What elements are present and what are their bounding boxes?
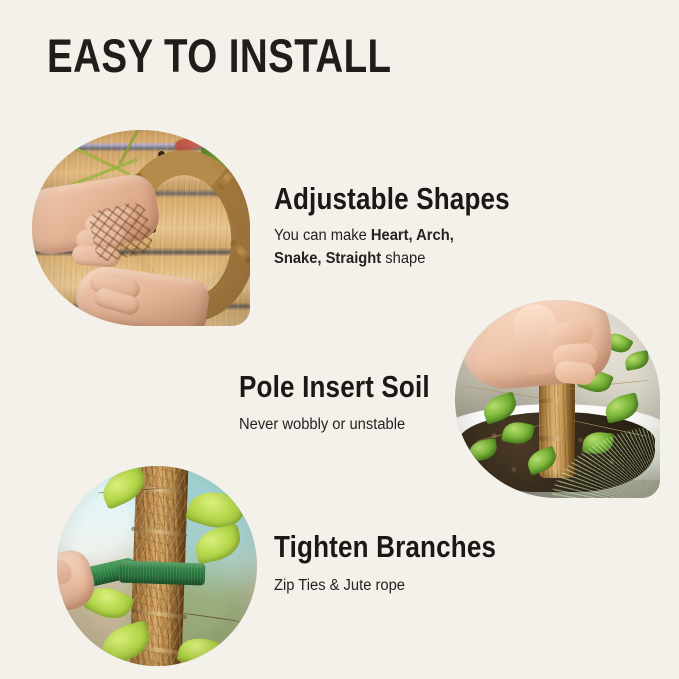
page-title: EASY TO INSTALL — [47, 28, 391, 84]
feature-heading: Pole Insert Soil — [239, 368, 430, 406]
feature-text-pole-insert-soil: Pole Insert Soil Never wobbly or unstabl… — [239, 368, 466, 436]
feature-text-tighten-branches: Tighten Branches Zip Ties & Jute rope — [274, 528, 538, 597]
subtitle-suffix: shape — [381, 250, 425, 267]
infographic-canvas: EASY TO INSTALL Adjustable Shapes Yo — [0, 0, 679, 679]
subtitle-prefix: You can make — [274, 227, 371, 244]
feature-subtitle: Never wobbly or unstable — [239, 413, 455, 436]
feature-heading: Tighten Branches — [274, 528, 496, 566]
subtitle-bold-shapes-2: Snake, Straight — [274, 250, 381, 267]
feature-image-tighten-branches — [57, 466, 257, 666]
feature-image-pole-insert-soil — [455, 300, 660, 498]
feature-subtitle: Zip Ties & Jute rope — [274, 574, 525, 597]
feature-image-adjustable-shapes — [32, 130, 250, 326]
feature-text-adjustable-shapes: Adjustable Shapes You can make Heart, Ar… — [274, 180, 555, 270]
feature-subtitle: You can make Heart, Arch, Snake, Straigh… — [274, 224, 493, 270]
photo-vignette — [32, 130, 250, 326]
photo-vignette — [57, 466, 257, 666]
subtitle-bold-shapes-1: Heart, Arch, — [371, 227, 454, 244]
photo-vignette — [455, 300, 660, 498]
feature-heading: Adjustable Shapes — [274, 180, 510, 218]
